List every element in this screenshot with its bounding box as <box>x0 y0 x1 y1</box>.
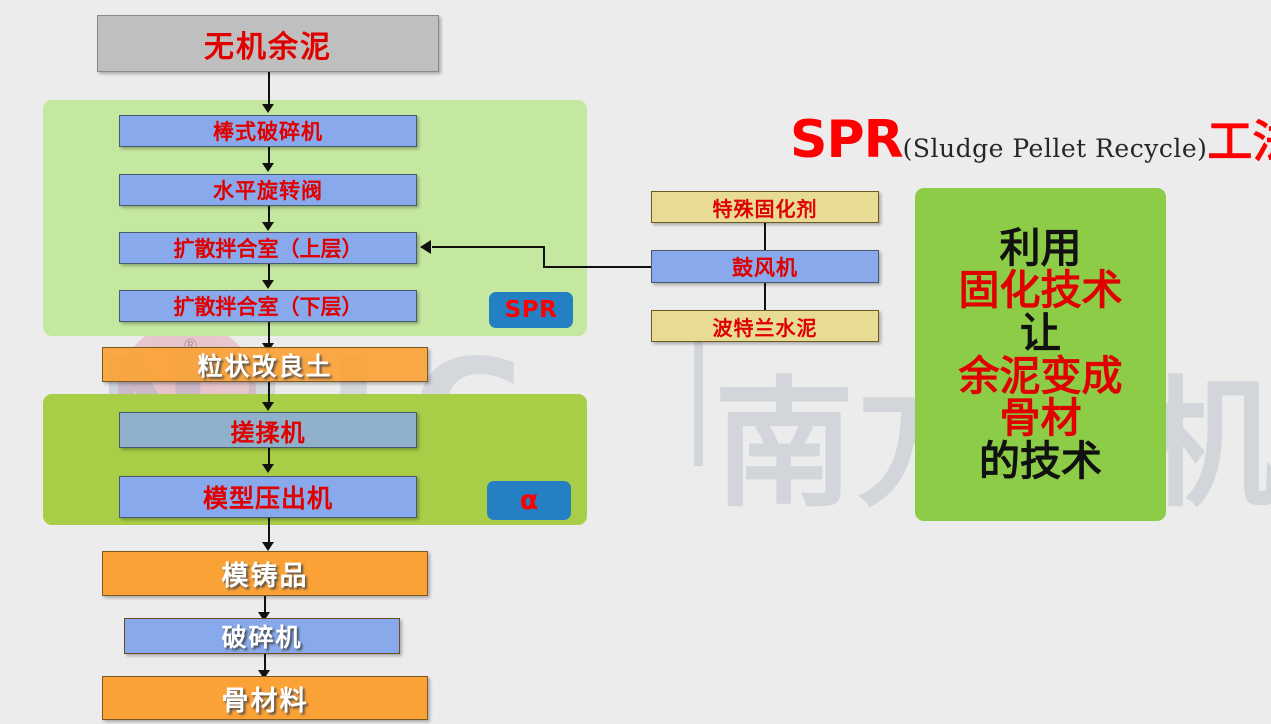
connector-arrowhead <box>262 222 274 231</box>
box-horizontal-rotary-valve[interactable]: 水平旋转阀 <box>119 174 417 206</box>
box-label: 搓揉机 <box>231 413 306 448</box>
callout-line-2: 固化技术 <box>959 269 1123 312</box>
title-acronym: SPR <box>790 110 903 170</box>
box-blower[interactable]: 鼓风机 <box>651 250 879 283</box>
box-diffusion-mixing-chamber-lower[interactable]: 扩散拌合室（下层） <box>119 290 417 322</box>
box-mold-extruder[interactable]: 模型压出机 <box>119 476 417 518</box>
badge-alpha: α <box>487 481 571 520</box>
box-crusher[interactable]: 破碎机 <box>124 618 400 654</box>
box-label: 破碎机 <box>221 618 302 654</box>
connector-arrowhead <box>262 402 274 411</box>
title-suffix: 工法 <box>1207 105 1271 170</box>
connector-line <box>543 246 545 268</box>
connector-arrowhead <box>262 280 274 289</box>
box-label: 扩散拌合室（下层） <box>174 291 363 321</box>
connector-line <box>543 266 653 268</box>
connector-arrowhead <box>420 240 431 254</box>
connector-arrowhead <box>262 104 274 113</box>
connector-line <box>268 72 270 106</box>
connector-arrowhead <box>262 542 274 551</box>
callout-line-6: 的技术 <box>979 440 1102 483</box>
box-label: 模型压出机 <box>203 479 333 515</box>
box-input-material[interactable]: 无机余泥 <box>97 15 439 72</box>
box-kneading-machine[interactable]: 搓揉机 <box>119 412 417 448</box>
connector-line <box>268 518 270 544</box>
box-label: 鼓风机 <box>732 252 798 282</box>
box-diffusion-mixing-chamber-upper[interactable]: 扩散拌合室（上层） <box>119 232 417 264</box>
badge-spr: SPR <box>489 292 573 328</box>
box-label: 粒状改良土 <box>197 347 332 383</box>
box-label: 骨材料 <box>222 679 309 718</box>
box-label: 水平旋转阀 <box>213 175 323 205</box>
badge-label: SPR <box>505 297 558 323</box>
badge-label: α <box>520 485 539 516</box>
box-portland-cement[interactable]: 波特兰水泥 <box>651 310 879 342</box>
connector-arrowhead <box>262 163 274 172</box>
callout-panel: 利用 固化技术 让 余泥变成 骨材 的技术 <box>915 188 1166 521</box>
connector-line <box>432 246 545 248</box>
box-label: 特殊固化剂 <box>713 193 818 222</box>
box-label: 无机余泥 <box>204 22 332 66</box>
callout-line-4: 余泥变成 <box>959 355 1123 398</box>
connector-line <box>764 223 766 250</box>
callout-line-5: 骨材 <box>1000 397 1082 440</box>
box-label: 扩散拌合室（上层） <box>174 233 363 263</box>
box-granular-improved-soil[interactable]: 粒状改良土 <box>102 347 428 382</box>
watermark-divider <box>694 338 703 466</box>
box-special-solidifying-agent[interactable]: 特殊固化剂 <box>651 191 879 223</box>
connector-arrowhead <box>262 464 274 473</box>
box-rod-crusher[interactable]: 棒式破碎机 <box>119 115 417 147</box>
box-label: 波特兰水泥 <box>713 312 818 341</box>
box-molded-product[interactable]: 模铸品 <box>102 551 428 596</box>
diagram-canvas: N FLG ® 南方路机 无机余泥 棒式破碎机 水平旋转 <box>0 0 1271 724</box>
connector-line <box>268 322 270 345</box>
box-label: 模铸品 <box>222 554 309 593</box>
callout-line-3: 让 <box>1020 312 1061 355</box>
callout-line-1: 利用 <box>1000 227 1082 270</box>
title-spr-method: SPR (Sludge Pellet Recycle) 工法 <box>790 105 1271 161</box>
connector-line <box>268 382 270 404</box>
box-aggregate-material[interactable]: 骨材料 <box>102 676 428 720</box>
connector-line <box>764 283 766 310</box>
title-expansion: (Sludge Pellet Recycle) <box>903 134 1208 163</box>
box-label: 棒式破碎机 <box>213 116 323 146</box>
